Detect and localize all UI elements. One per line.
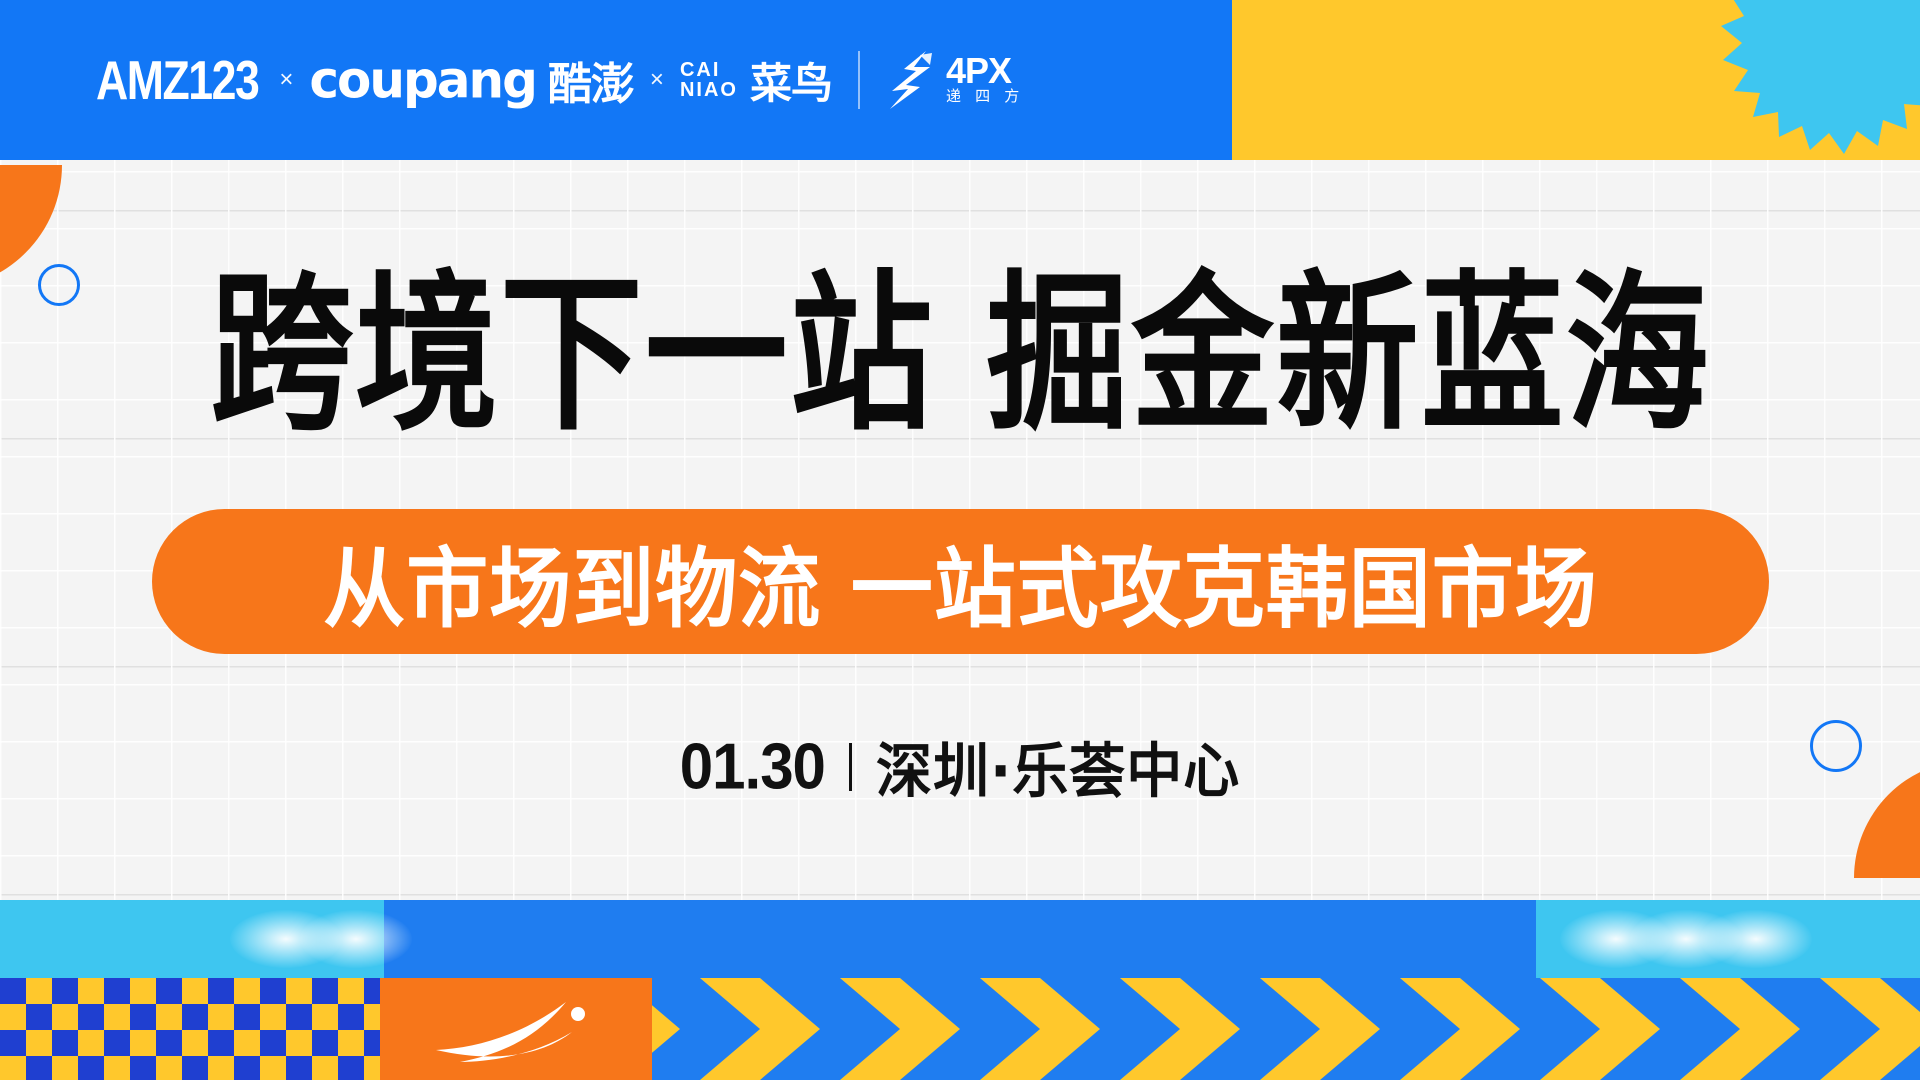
cainiao-wordmark: CAI NIAO [680,60,738,100]
4px-logo: 4PX 递 四 方 [886,49,1024,111]
cyan-strip [0,900,1920,978]
cainiao-line2: NIAO [680,80,738,100]
page-title: 跨境下一站 掘金新蓝海 [210,271,1710,442]
lens-highlight-icon [1700,910,1812,968]
subtitle-pill: 从市场到物流 一站式攻克韩国市场 [152,509,1769,654]
subtitle-text: 从市场到物流 一站式攻克韩国市场 [323,518,1598,644]
lens-highlight-icon [300,910,412,968]
x-separator-icon: × [650,66,664,94]
coupang-logo-cn: 酷澎 [548,48,634,112]
partner-logo-row: AMZ123 × coupang 酷澎 × CAI NIAO 菜鸟 4PX 递 … [0,0,1232,160]
x-separator-icon: × [279,66,293,94]
cainiao-logo-cn: 菜鸟 [750,50,832,111]
blue-strip-segment [384,900,1536,978]
4px-mark-icon [886,49,938,111]
date-venue-line: 01.30 深圳·乐荟中心 [0,726,1920,807]
logo-divider [858,51,860,109]
amz123-logo: AMZ123 [96,48,258,112]
checkerboard-block [0,978,380,1080]
4px-wordmark: 4PX 递 四 方 [946,54,1024,106]
4px-label-cn: 递 四 方 [946,88,1024,106]
sparkle-icon [432,992,602,1066]
cainiao-logo: CAI NIAO 菜鸟 [680,50,832,111]
date-venue-divider [849,743,852,791]
event-venue: 深圳·乐荟中心 [876,724,1240,810]
poster-canvas: AMZ123 × coupang 酷澎 × CAI NIAO 菜鸟 4PX 递 … [0,0,1920,1080]
footer-decor-band [0,900,1920,1080]
orange-accent-block [380,978,652,1080]
headline-block: 跨境下一站 掘金新蓝海 [0,286,1920,426]
coupang-logo: coupang [309,50,536,109]
starburst-icon [1682,0,1920,204]
event-date: 01.30 [680,729,825,804]
4px-label: 4PX [946,54,1024,88]
cainiao-line1: CAI [680,60,738,80]
